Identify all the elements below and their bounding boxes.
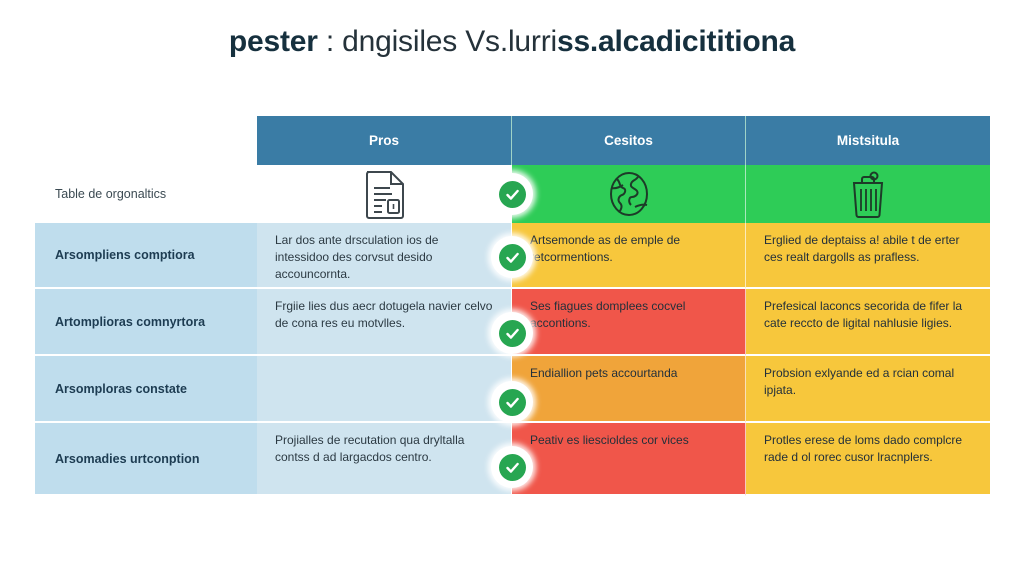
- row-label-4: Arsomadies urtconption: [35, 423, 257, 496]
- globe-icon: [605, 169, 653, 219]
- row-2-pros-text: Frgiie lies dus aecr dotugela navier cel…: [257, 289, 511, 341]
- row-3-cell-pros: [257, 356, 512, 423]
- row-2-cell-mistsitula: Prefesical laconcs secorida de fifer la …: [746, 289, 990, 356]
- check-icon: [499, 454, 526, 481]
- table-header-row: Pros Cesitos Mistsitula: [35, 116, 990, 165]
- check-icon: [499, 181, 526, 208]
- page-title-part1: pester: [229, 25, 318, 58]
- row-2-cesitos-text: Ses fiagues domplees cocvel accontions.: [512, 289, 745, 341]
- row-3-cell-cesitos: Endiallion pets accourtanda: [512, 356, 746, 423]
- row-1-mistsitula-text: Erglied de deptaiss a! abile t de erter …: [746, 223, 990, 275]
- row-label-3: Arsomploras constate: [35, 356, 257, 423]
- row-4-cell-cesitos: Peativ es liescioldes cor vices: [512, 423, 746, 496]
- row-1-cell-cesitos: Artsemonde as de emple de retcormentions…: [512, 223, 746, 289]
- row-1-cell-pros: Lar dos ante drsculation ios de intessid…: [257, 223, 512, 289]
- icon-cell-trash: [746, 165, 990, 223]
- check-icon: [499, 389, 526, 416]
- check-badge-row-1: [491, 236, 533, 278]
- row-3-cesitos-text: Endiallion pets accourtanda: [512, 356, 745, 391]
- document-icon: [363, 169, 407, 219]
- icon-cell-globe: [512, 165, 746, 223]
- page-title-part3: ss.alcadicititiona: [557, 25, 795, 58]
- page-title-part2: : dngisiles Vs.lurri: [318, 25, 557, 58]
- check-badge-row-2: [491, 312, 533, 354]
- column-header-mistsitula[interactable]: Mistsitula: [746, 116, 990, 165]
- row-1-cell-mistsitula: Erglied de deptaiss a! abile t de erter …: [746, 223, 990, 289]
- icon-row-label: Table de orgonaltics: [35, 165, 257, 223]
- comparison-table: Pros Cesitos Mistsitula Table de orgonal…: [35, 116, 990, 496]
- row-4-pros-text: Projialles de recutation qua dryltalla c…: [257, 423, 511, 475]
- table-header-corner: [35, 116, 257, 165]
- row-2-cell-cesitos: Ses fiagues domplees cocvel accontions.: [512, 289, 746, 356]
- row-3-mistsitula-text: Probsion exlyande ed a rcian comal ipjat…: [746, 356, 990, 408]
- trash-icon: [846, 169, 890, 219]
- row-4-mistsitula-text: Protles erese de loms dado complcre rade…: [746, 423, 990, 475]
- check-badge-row-4: [491, 446, 533, 488]
- row-label-1: Arsompliens comptiora: [35, 223, 257, 289]
- row-3-pros-text: [257, 356, 511, 374]
- row-4-cell-mistsitula: Protles erese de loms dado complcre rade…: [746, 423, 990, 496]
- check-icon: [499, 320, 526, 347]
- row-1-pros-text: Lar dos ante drsculation ios de intessid…: [257, 223, 511, 289]
- icon-cell-document: [257, 165, 512, 223]
- page-title: pester : dngisiles Vs.lurriss.alcadiciti…: [0, 22, 1024, 62]
- row-1-cesitos-text: Artsemonde as de emple de retcormentions…: [512, 223, 745, 275]
- check-badge-icons-row: [491, 173, 533, 215]
- row-4-cesitos-text: Peativ es liescioldes cor vices: [512, 423, 745, 458]
- column-header-pros[interactable]: Pros: [257, 116, 512, 165]
- check-badge-row-3: [491, 381, 533, 423]
- row-2-mistsitula-text: Prefesical laconcs secorida de fifer la …: [746, 289, 990, 341]
- row-4-cell-pros: Projialles de recutation qua dryltalla c…: [257, 423, 512, 496]
- check-icon: [499, 244, 526, 271]
- row-3-cell-mistsitula: Probsion exlyande ed a rcian comal ipjat…: [746, 356, 990, 423]
- row-2-cell-pros: Frgiie lies dus aecr dotugela navier cel…: [257, 289, 512, 356]
- column-header-cesitos[interactable]: Cesitos: [512, 116, 746, 165]
- infographic-page: pester : dngisiles Vs.lurriss.alcadiciti…: [0, 0, 1024, 576]
- row-label-2: Artomplioras comnyrtora: [35, 289, 257, 356]
